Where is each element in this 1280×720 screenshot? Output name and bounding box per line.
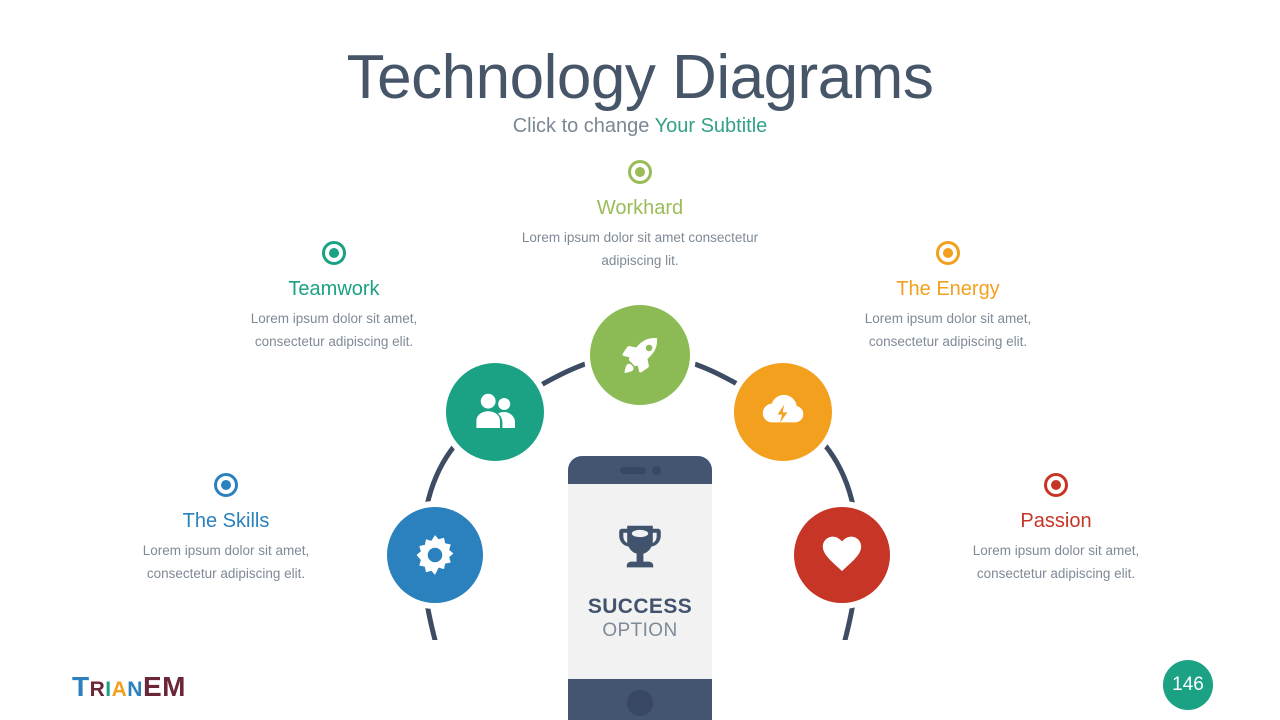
option-label: OPTION bbox=[602, 619, 677, 643]
rocket-icon bbox=[617, 332, 663, 378]
node-cloud[interactable] bbox=[734, 363, 832, 461]
page-subtitle: Click to change Your Subtitle bbox=[0, 113, 1280, 139]
page-number-badge: 146 bbox=[1163, 660, 1213, 710]
slide-canvas: Technology Diagrams Click to change Your… bbox=[0, 0, 1280, 720]
circle-dot-icon bbox=[322, 241, 346, 265]
node-gear[interactable] bbox=[387, 507, 483, 603]
brand-logo[interactable]: TRIANEM bbox=[72, 670, 186, 707]
callout-description: Lorem ipsum dolor sit amet, consectetur … bbox=[966, 539, 1146, 585]
callout-description: Lorem ipsum dolor sit amet, consectetur … bbox=[136, 539, 316, 585]
phone-screen: SUCCESS OPTION bbox=[568, 484, 712, 679]
cloud-lightning-icon bbox=[758, 387, 808, 437]
trophy-icon bbox=[611, 520, 669, 583]
success-label: SUCCESS bbox=[588, 595, 692, 619]
circle-dot-icon bbox=[628, 160, 652, 184]
circle-dot-icon bbox=[214, 473, 238, 497]
callout-label: Workhard bbox=[510, 194, 770, 222]
node-heart[interactable] bbox=[794, 507, 890, 603]
page-number-label: 146 bbox=[1172, 674, 1204, 696]
phone-speaker-icon bbox=[620, 467, 646, 474]
gear-icon bbox=[412, 532, 458, 578]
phone-camera-icon bbox=[652, 466, 661, 475]
home-button-icon bbox=[627, 690, 653, 716]
phone-mockup: SUCCESS OPTION bbox=[568, 456, 712, 720]
node-users[interactable] bbox=[446, 363, 544, 461]
subtitle-accent-text: Your Subtitle bbox=[655, 115, 768, 137]
callout-workhard[interactable]: Workhard Lorem ipsum dolor sit amet cons… bbox=[510, 160, 770, 272]
logo-letter: E bbox=[143, 670, 162, 704]
node-rocket[interactable] bbox=[590, 305, 690, 405]
circle-dot-icon bbox=[936, 241, 960, 265]
logo-letter: M bbox=[162, 670, 186, 704]
callout-skills[interactable]: The Skills Lorem ipsum dolor sit amet, c… bbox=[136, 473, 316, 585]
callout-passion[interactable]: Passion Lorem ipsum dolor sit amet, cons… bbox=[966, 473, 1146, 585]
callout-label: The Skills bbox=[136, 507, 316, 535]
heart-icon bbox=[819, 532, 865, 578]
logo-letter: A bbox=[112, 673, 128, 707]
circle-dot-icon bbox=[1044, 473, 1068, 497]
subtitle-static-text: Click to change bbox=[513, 115, 655, 137]
callout-label: Passion bbox=[966, 507, 1146, 535]
users-icon bbox=[471, 388, 519, 436]
callout-description: Lorem ipsum dolor sit amet consectetur a… bbox=[510, 226, 770, 272]
phone-bottom-bar bbox=[568, 679, 712, 720]
logo-letter: N bbox=[127, 673, 143, 707]
page-title: Technology Diagrams bbox=[0, 42, 1280, 114]
logo-letter: T bbox=[72, 670, 90, 704]
phone-top-bar bbox=[568, 456, 712, 484]
logo-letter: R bbox=[90, 673, 106, 707]
